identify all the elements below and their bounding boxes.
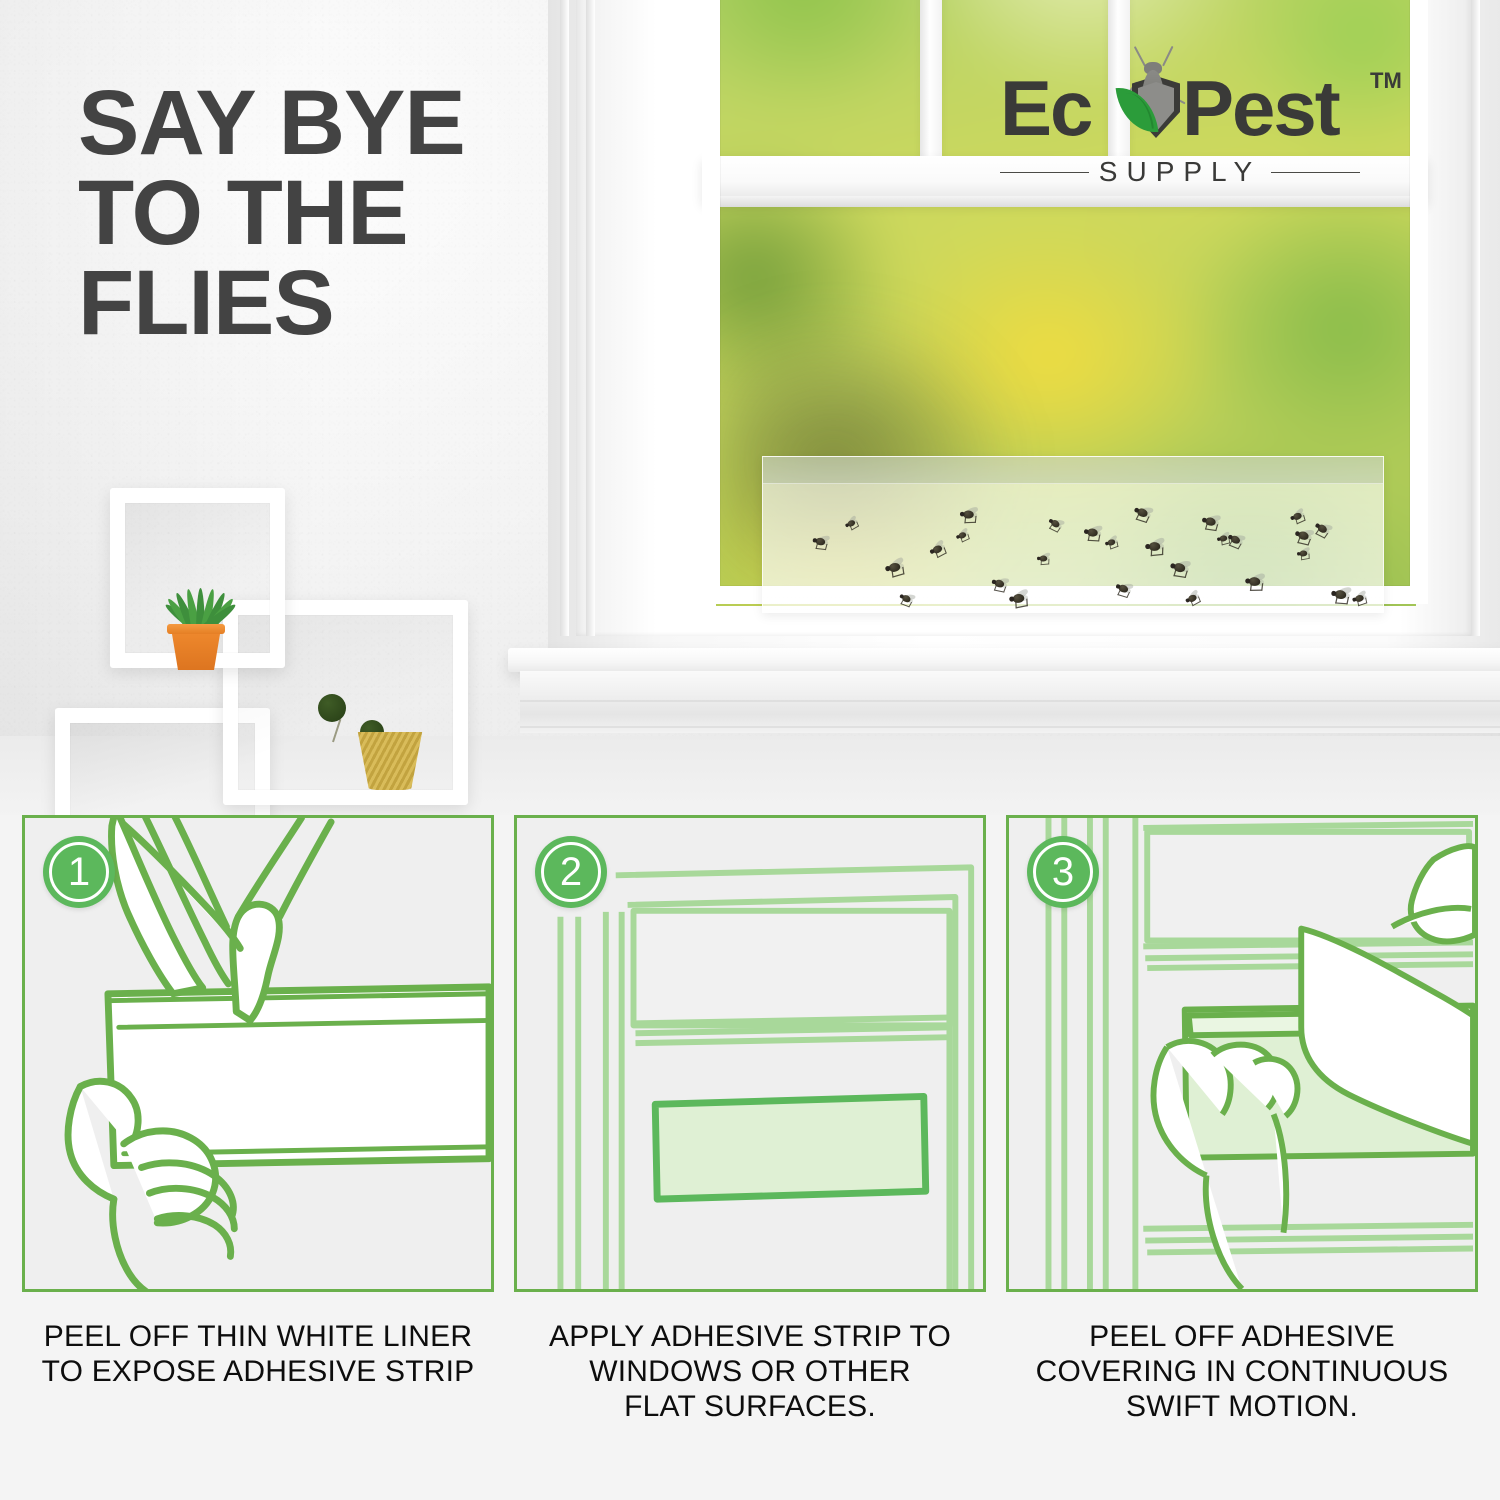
fly — [1037, 554, 1050, 563]
headline-line-3: FLIES — [78, 258, 598, 348]
instruction-steps: 1 — [0, 815, 1500, 1500]
window-sill — [508, 648, 1500, 672]
beetle-shield-leaf-icon — [1116, 56, 1190, 160]
brand-wordmark: Ec Pest TM — [1000, 62, 1410, 154]
fly — [1245, 575, 1263, 587]
fly — [1008, 591, 1027, 605]
tagline-rule-left — [1000, 172, 1089, 173]
fly — [1047, 517, 1063, 531]
fly — [1184, 591, 1200, 605]
trademark-symbol: TM — [1370, 68, 1402, 94]
fly-trap-strip-header — [763, 457, 1383, 484]
fly — [1201, 515, 1218, 527]
step-number-2: 2 — [560, 852, 582, 892]
step-badge-1: 1 — [43, 836, 115, 908]
window-mullion-1 — [920, 0, 942, 168]
step-badge-3: 3 — [1027, 836, 1099, 908]
step-caption-2: APPLY ADHESIVE STRIP TOWINDOWS OR OTHERF… — [514, 1320, 986, 1424]
wall-shelf-decor — [55, 480, 475, 820]
apron-groove-1 — [520, 700, 1500, 702]
step-number-3: 3 — [1052, 852, 1074, 892]
fly — [884, 560, 904, 576]
step-caption-3: PEEL OFF ADHESIVECOVERING IN CONTINUOUSS… — [1006, 1320, 1478, 1424]
step-panel-2: 2 — [514, 815, 986, 1292]
fly — [1351, 592, 1366, 604]
fly — [1104, 537, 1118, 548]
fly — [1297, 549, 1310, 559]
fly — [1294, 528, 1312, 542]
fly-trap-strip — [762, 456, 1384, 613]
fly — [1084, 527, 1101, 538]
brand-tagline: SUPPLY — [1099, 156, 1261, 188]
step-panel-1: 1 — [22, 815, 494, 1292]
page-title: SAY BYE TO THE FLIES — [78, 78, 598, 348]
product-infographic: SAY BYE TO THE FLIES Ec Pest TM — [0, 0, 1500, 1500]
fly — [1226, 533, 1243, 547]
apron-groove-2 — [520, 726, 1500, 728]
tagline-rule-right — [1271, 172, 1360, 173]
fly — [1133, 505, 1152, 520]
brand-logo: Ec Pest TM SUPPLY — [1000, 62, 1410, 202]
brand-name-part-1: Ec — [1000, 62, 1091, 154]
terracotta-pot-rim — [167, 624, 225, 634]
fly — [1145, 540, 1164, 553]
window-jamb-right — [1471, 0, 1480, 636]
step-badge-2: 2 — [535, 836, 607, 908]
fly — [1289, 510, 1305, 523]
fly — [1115, 581, 1132, 594]
fly — [1331, 589, 1349, 601]
brand-tagline-row: SUPPLY — [1000, 154, 1360, 190]
fly — [1313, 521, 1330, 536]
step-number-1: 1 — [68, 852, 90, 892]
fly — [960, 509, 976, 520]
terracotta-pot — [171, 628, 221, 670]
fly — [955, 529, 969, 541]
fly — [844, 518, 858, 531]
fly — [991, 577, 1007, 589]
fly — [1170, 560, 1189, 574]
headline-line-1: SAY BYE — [78, 78, 598, 168]
step-panel-3: 3 — [1006, 815, 1478, 1292]
fly — [812, 535, 828, 546]
moss-ball-1 — [318, 694, 346, 722]
brand-name-part-2: Pest — [1182, 62, 1339, 154]
fly — [929, 541, 946, 556]
headline-line-2: TO THE — [78, 168, 598, 258]
window-apron — [520, 671, 1500, 733]
step-caption-1: PEEL OFF THIN WHITE LINERTO EXPOSE ADHES… — [22, 1320, 494, 1390]
fly — [899, 592, 914, 605]
